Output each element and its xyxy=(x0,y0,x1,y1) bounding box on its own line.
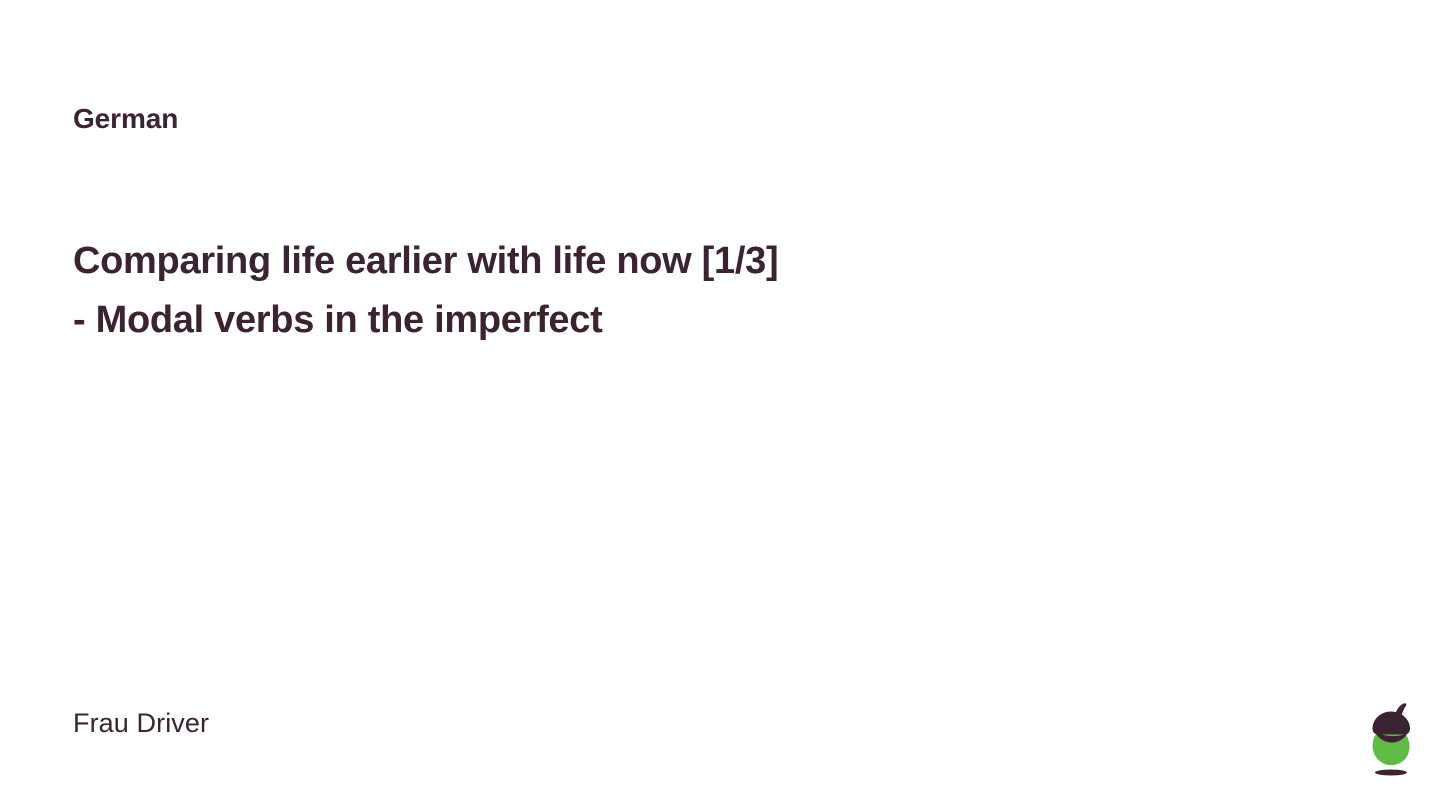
title-line-1: Comparing life earlier with life now [1/… xyxy=(73,232,1073,291)
title-line-2: - Modal verbs in the imperfect xyxy=(73,291,1073,350)
subject-label: German xyxy=(73,102,178,136)
page-title: Comparing life earlier with life now [1/… xyxy=(73,232,1073,350)
presenter-name: Frau Driver xyxy=(73,707,209,741)
title-slide: German Comparing life earlier with life … xyxy=(0,0,1440,810)
acorn-icon xyxy=(1368,702,1414,778)
